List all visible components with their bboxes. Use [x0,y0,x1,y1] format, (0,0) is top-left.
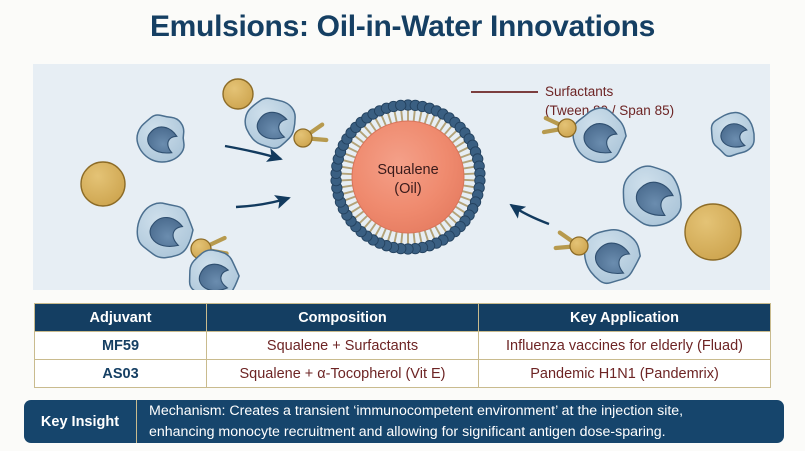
column-header-application: Key Application [479,304,771,332]
droplet-tether [294,125,326,147]
key-insight-line1: Mechanism: Creates a transient ‘immunoco… [149,401,784,422]
surfactant-callout: Surfactants (Tween 80 / Span 85) [471,84,674,118]
arrow-left-lower [236,198,289,207]
monocyte [623,166,681,226]
cell-composition: Squalene + α-Tocopherol (Vit E) [207,360,479,388]
cell-application: Pandemic H1N1 (Pandemrix) [479,360,771,388]
tether-droplet [294,129,312,147]
emulsion-diagram-svg: Squalene (Oil) Surfactants (Tween 80 / S… [33,64,770,290]
monocyte [584,230,640,284]
oil-droplet [685,204,741,260]
oil-droplet [223,79,253,109]
monocyte [137,203,193,258]
page-title: Emulsions: Oil-in-Water Innovations [0,10,805,44]
cell-adjuvant: MF59 [35,332,207,360]
emulsion-diagram-panel: Squalene (Oil) Surfactants (Tween 80 / S… [33,64,770,290]
column-header-adjuvant: Adjuvant [35,304,207,332]
key-insight-line2: enhancing monocyte recruitment and allow… [149,422,784,443]
adjuvant-table: Adjuvant Composition Key Application MF5… [34,303,771,388]
cell-composition: Squalene + Surfactants [207,332,479,360]
key-insight-panel: Key Insight Mechanism: Creates a transie… [24,400,784,443]
arrow-right-lower [511,205,549,224]
slide-root: Emulsions: Oil-in-Water Innovations [0,0,805,451]
droplet-tether [544,118,576,137]
tether-droplet [570,237,588,255]
monocyte [245,98,295,148]
table-row: MF59 Squalene + Surfactants Influenza va… [35,332,771,360]
oil-droplet-body [81,162,125,206]
core-label-line1: Squalene [377,162,438,178]
table-row: AS03 Squalene + α-Tocopherol (Vit E) Pan… [35,360,771,388]
table-header-row: Adjuvant Composition Key Application [35,304,771,332]
monocyte [711,113,754,157]
oil-droplet-body [223,79,253,109]
key-insight-label: Key Insight [24,400,137,443]
key-insight-text: Mechanism: Creates a transient ‘immunoco… [137,400,784,443]
droplet-tether [556,233,588,255]
emulsion-droplet: Squalene (Oil) [331,100,485,254]
cell-application: Influenza vaccines for elderly (Fluad) [479,332,771,360]
callout-line1: Surfactants [545,84,614,99]
monocyte [137,115,184,162]
oil-droplet-body [685,204,741,260]
column-header-composition: Composition [207,304,479,332]
tether-droplet [558,119,576,137]
oil-droplet [81,162,125,206]
core-label-line2: (Oil) [394,181,421,197]
cell-adjuvant: AS03 [35,360,207,388]
